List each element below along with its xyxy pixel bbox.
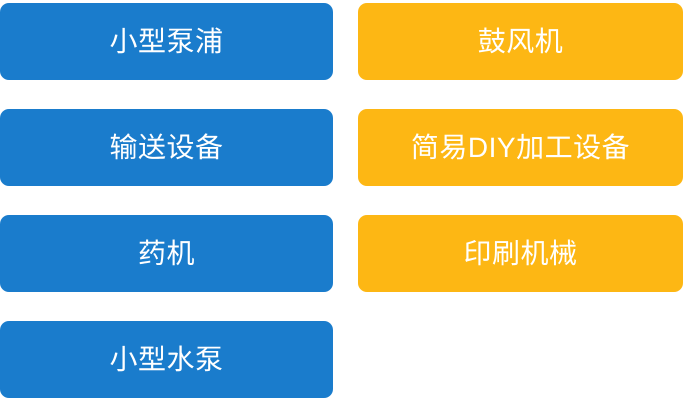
tag-button-printing-machinery[interactable]: 印刷机械 — [358, 215, 683, 292]
tag-button-label: 药机 — [138, 240, 195, 268]
tag-button-blower[interactable]: 鼓风机 — [358, 3, 683, 80]
tag-button-small-pump[interactable]: 小型泵浦 — [0, 3, 333, 80]
tag-button-label: 鼓风机 — [478, 28, 564, 56]
tag-button-grid: 小型泵浦 输送设备 药机 小型水泵 鼓风机 简易DIY加工设备 印刷机械 — [0, 0, 686, 403]
tag-button-label: 印刷机械 — [463, 240, 577, 268]
tag-button-diy-processing-equipment[interactable]: 简易DIY加工设备 — [358, 109, 683, 186]
tag-button-label: 简易DIY加工设备 — [411, 134, 630, 162]
tag-button-conveying-equipment[interactable]: 输送设备 — [0, 109, 333, 186]
tag-button-label: 小型泵浦 — [109, 28, 223, 56]
tag-button-label: 输送设备 — [109, 134, 223, 162]
tag-button-label: 小型水泵 — [109, 346, 223, 374]
tag-button-small-water-pump[interactable]: 小型水泵 — [0, 321, 333, 398]
tag-button-medicine-machine[interactable]: 药机 — [0, 215, 333, 292]
